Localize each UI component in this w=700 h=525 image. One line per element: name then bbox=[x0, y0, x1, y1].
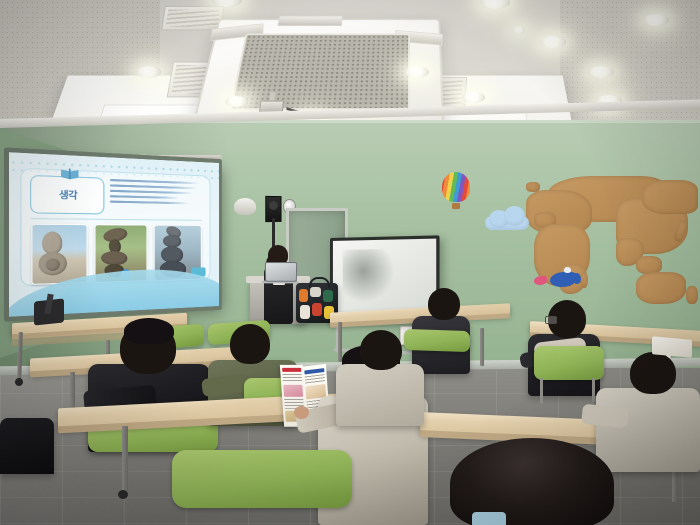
slide-body-text bbox=[110, 179, 204, 215]
classroom-photo: 생각 bbox=[0, 0, 700, 525]
whale-spout-decoration bbox=[564, 267, 571, 273]
ceiling-vent bbox=[161, 6, 224, 30]
student-hair bbox=[124, 318, 174, 344]
cloud-decoration bbox=[485, 206, 529, 230]
presenter-laptop[interactable] bbox=[262, 262, 296, 284]
student-seated bbox=[336, 330, 424, 426]
student-foreground bbox=[432, 438, 628, 525]
ceiling-downlight bbox=[405, 66, 429, 78]
open-book-icon bbox=[60, 167, 80, 180]
slide-title-text: 생각 bbox=[59, 190, 77, 200]
ceiling-downlight bbox=[480, 0, 510, 9]
ceiling-downlight bbox=[462, 92, 485, 103]
green-classroom-chair[interactable] bbox=[172, 450, 352, 525]
wooden-world-map bbox=[430, 168, 698, 308]
ceiling-downlight bbox=[540, 36, 566, 48]
eyeglasses-icon bbox=[545, 316, 557, 324]
ceiling-smoke-detector bbox=[513, 26, 525, 34]
slide-title-badge: 생각 bbox=[30, 175, 104, 215]
student-seated bbox=[0, 404, 54, 474]
ceiling-downlight bbox=[643, 14, 669, 26]
slide-photo bbox=[31, 224, 88, 285]
ceiling-downlight bbox=[225, 96, 248, 107]
teacher-presenting bbox=[262, 248, 296, 324]
green-classroom-chair[interactable] bbox=[534, 346, 604, 386]
ceiling-downlight bbox=[136, 66, 161, 78]
ceiling-downlight bbox=[588, 66, 614, 78]
projection-screen: 생각 bbox=[9, 152, 219, 317]
pink-whale-decoration bbox=[534, 276, 547, 285]
wall-dome-light bbox=[234, 198, 256, 215]
slide-content-card: 생각 bbox=[20, 168, 210, 287]
hot-air-balloon-decoration bbox=[442, 172, 470, 208]
paper-on-desk bbox=[652, 336, 692, 357]
